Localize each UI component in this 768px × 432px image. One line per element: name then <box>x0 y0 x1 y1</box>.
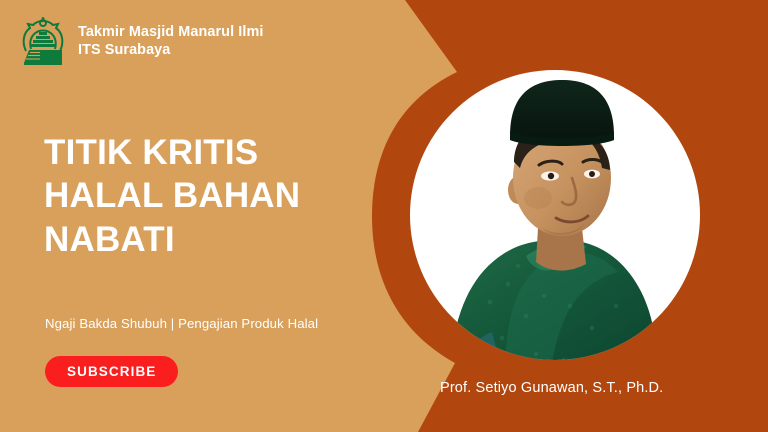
headline-block: TITIK KRITIS HALAL BAHAN NABATI <box>44 131 384 261</box>
peci-cap <box>510 80 614 142</box>
presentation-slide: Takmir Masjid Manarul Ilmi ITS Surabaya … <box>0 0 768 432</box>
brand-lockup: Takmir Masjid Manarul Ilmi ITS Surabaya <box>20 17 263 65</box>
subscribe-button[interactable]: SUBSCRIBE <box>45 356 178 387</box>
speaker-portrait-circle <box>410 70 700 360</box>
page-title: TITIK KRITIS HALAL BAHAN NABATI <box>44 131 384 261</box>
speaker-photo <box>410 70 700 360</box>
headline-subtitle: Ngaji Bakda Shubuh | Pengajian Produk Ha… <box>45 316 318 331</box>
mosque-gear-emblem-icon <box>20 17 66 65</box>
brand-name: Takmir Masjid Manarul Ilmi ITS Surabaya <box>78 23 263 60</box>
speaker-name-caption: Prof. Setiyo Gunawan, S.T., Ph.D. <box>440 380 663 396</box>
